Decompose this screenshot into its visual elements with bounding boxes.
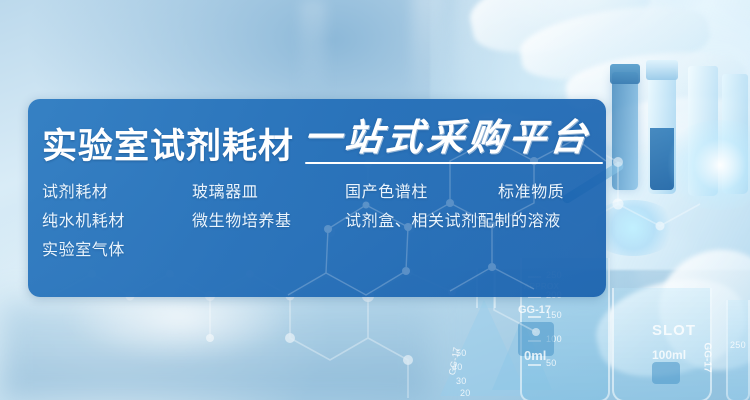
headline-main-text: 实验室试剂耗材 [42, 129, 294, 164]
category-item-reagent-consumables[interactable]: 试剂耗材 [42, 178, 108, 207]
laboratory-reagent-banner: 250 APPROX 200 150 100 50 GG-17 0ml SLOT… [0, 0, 750, 400]
category-row: 试剂耗材 玻璃器皿 国产色谱柱 标准物质 [42, 178, 602, 207]
category-item-microbial-culture-media[interactable]: 微生物培养基 [192, 207, 292, 236]
category-item-water-purifier-consumables[interactable]: 纯水机耗材 [42, 207, 125, 236]
headline: 实验室试剂耗材 一站式采购平台 [42, 119, 591, 164]
category-item-glassware[interactable]: 玻璃器皿 [192, 178, 258, 207]
category-item-kits-and-solutions[interactable]: 试剂盒、相关试剂配制的溶液 [345, 207, 561, 236]
headline-underline [305, 162, 603, 164]
headline-calligraphy-text: 一站式采购平台 [302, 119, 593, 156]
headline-calligraphy-wrapper: 一站式采购平台 [304, 119, 591, 164]
category-item-domestic-chromatography-column[interactable]: 国产色谱柱 [345, 178, 428, 207]
category-row: 纯水机耗材 微生物培养基 试剂盒、相关试剂配制的溶液 [42, 207, 602, 236]
category-row: 实验室气体 [42, 236, 602, 265]
category-item-laboratory-gas[interactable]: 实验室气体 [42, 236, 125, 265]
promo-panel: 实验室试剂耗材 一站式采购平台 试剂耗材 玻璃器皿 国产色谱柱 标准物质 纯水机… [28, 99, 606, 297]
category-item-reference-material[interactable]: 标准物质 [498, 178, 564, 207]
category-list: 试剂耗材 玻璃器皿 国产色谱柱 标准物质 纯水机耗材 微生物培养基 试剂盒、相关… [42, 178, 602, 265]
